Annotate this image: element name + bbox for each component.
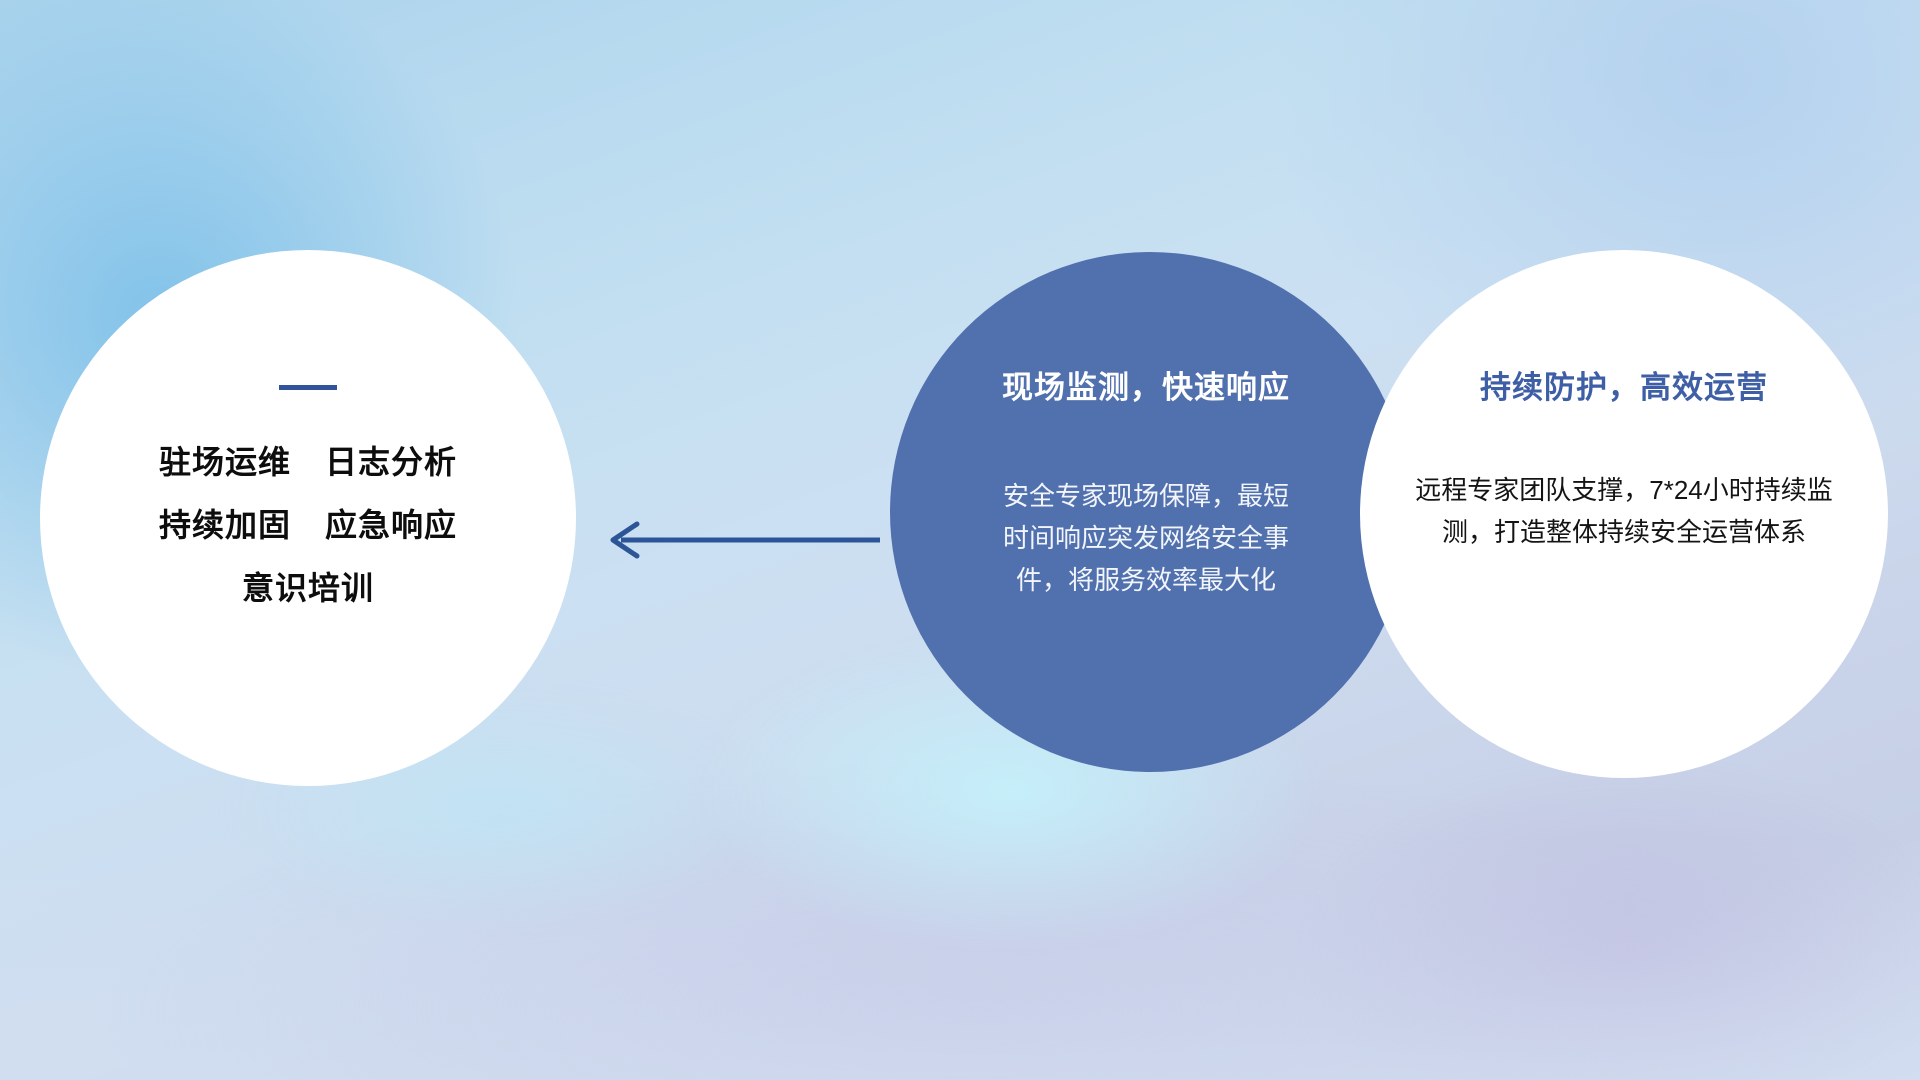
- keyword-row: 驻场运维 日志分析: [159, 445, 457, 480]
- right-card: 持续防护，高效运营 远程专家团队支撑，7*24小时持续监测，打造整体持续安全运营…: [1360, 250, 1888, 778]
- keyword-item: 应急响应: [325, 508, 457, 543]
- left-card: 驻场运维 日志分析 持续加固 应急响应 意识培训: [40, 250, 576, 786]
- arrow-left-icon: [595, 515, 885, 565]
- keyword-row: 持续加固 应急响应: [159, 508, 457, 543]
- right-card-body: 远程专家团队支撑，7*24小时持续监测，打造整体持续安全运营体系: [1414, 469, 1834, 553]
- middle-circle-shape: [890, 252, 1410, 772]
- divider-dash: [279, 385, 337, 390]
- keyword-item: 日志分析: [325, 445, 457, 480]
- background-bottom-fade: [0, 840, 1920, 1080]
- keyword-item: 意识培训: [242, 571, 374, 606]
- keyword-row: 意识培训: [242, 571, 374, 606]
- slide-canvas: 驻场运维 日志分析 持续加固 应急响应 意识培训 现场监测，快速响应 安全专家现…: [0, 0, 1920, 1080]
- right-card-title: 持续防护，高效运营: [1480, 362, 1768, 407]
- keyword-item: 驻场运维: [159, 445, 291, 480]
- keyword-item: 持续加固: [159, 508, 291, 543]
